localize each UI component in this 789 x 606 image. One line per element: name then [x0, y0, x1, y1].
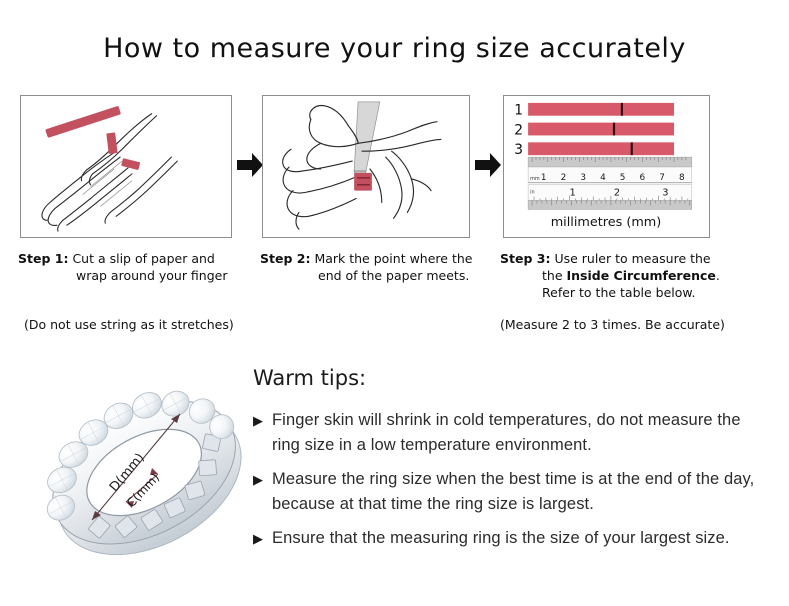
svg-text:6: 6 — [640, 173, 646, 183]
svg-text:3: 3 — [580, 173, 586, 183]
step-1-illustration-panel — [20, 95, 232, 238]
step-1-line2: wrap around your finger — [18, 267, 246, 284]
bullet-triangle-icon: ▶ — [253, 526, 263, 551]
bullet-triangle-icon: ▶ — [253, 467, 263, 492]
svg-text:3: 3 — [662, 188, 668, 199]
tip-item: ▶ Ensure that the measuring ring is the … — [253, 526, 773, 551]
step-3-line2-prefix: the — [542, 268, 567, 283]
step-2-line1: Mark the point where the — [314, 251, 472, 266]
step-3-illustration-panel: 1 2 3 mm 123 456 78 — [503, 95, 710, 238]
tip-item: ▶ Measure the ring size when the best ti… — [253, 467, 773, 517]
step-1-line1: Cut a slip of paper and — [72, 251, 214, 266]
tip-text: Measure the ring size when the best time… — [272, 467, 773, 517]
svg-text:5: 5 — [620, 173, 626, 183]
page-title: How to measure your ring size accurately — [0, 33, 789, 64]
svg-text:1: 1 — [541, 173, 547, 183]
tip-text: Finger skin will shrink in cold temperat… — [272, 408, 773, 458]
hand-with-paper-strip-drawing — [21, 96, 231, 237]
strip-label-2: 2 — [514, 122, 523, 138]
svg-text:8: 8 — [679, 173, 685, 183]
step-3-line1: Use ruler to measure the — [554, 251, 710, 266]
inside-circumference-emphasis: Inside Circumference — [567, 268, 716, 283]
svg-text:mm: mm — [530, 176, 540, 182]
unit-caption: millimetres (mm) — [551, 215, 662, 230]
svg-text:in: in — [530, 190, 535, 196]
ring-diagram: D(mm) C(mm) — [30, 352, 262, 596]
svg-text:4: 4 — [600, 173, 606, 183]
strip-label-1: 1 — [514, 103, 523, 119]
step-2-lead: Step 2: — [260, 251, 310, 266]
warm-tips-heading: Warm tips: — [253, 366, 773, 390]
paper-strip-mark — [354, 173, 372, 191]
svg-text:2: 2 — [614, 188, 620, 199]
step-3-line3: Refer to the table below. — [500, 284, 735, 301]
step-2-caption: Step 2: Mark the point where the end of … — [260, 250, 482, 284]
step-3-line2-suffix: . — [716, 268, 720, 283]
svg-text:1: 1 — [570, 188, 576, 199]
step-1-note: (Do not use string as it stretches) — [24, 317, 234, 332]
svg-text:2: 2 — [561, 173, 567, 183]
strip-label-3: 3 — [514, 142, 523, 158]
warm-tips-section: Warm tips: ▶ Finger skin will shrink in … — [253, 366, 773, 560]
tip-item: ▶ Finger skin will shrink in cold temper… — [253, 408, 773, 458]
step-3-lead: Step 3: — [500, 251, 550, 266]
step-2-line2: end of the paper meets. — [260, 267, 482, 284]
hand-marking-paper-drawing — [263, 96, 469, 237]
step-3-caption: Step 3: Use ruler to measure the the Ins… — [500, 250, 735, 301]
ring-size-guide-page: How to measure your ring size accurately — [0, 0, 789, 606]
step-1-caption: Step 1: Cut a slip of paper and wrap aro… — [18, 250, 246, 284]
arrow-right-icon-1 — [236, 150, 264, 180]
step-3-line2: the Inside Circumference. — [500, 267, 735, 284]
bullet-triangle-icon: ▶ — [253, 408, 263, 433]
svg-text:7: 7 — [659, 173, 665, 183]
step-3-note: (Measure 2 to 3 times. Be accurate) — [500, 317, 725, 332]
tip-text: Ensure that the measuring ring is the si… — [272, 526, 730, 551]
step-1-lead: Step 1: — [18, 251, 68, 266]
arrow-right-icon-2 — [474, 150, 502, 180]
step-2-illustration-panel — [262, 95, 470, 238]
ruler-and-strips-drawing: 1 2 3 mm 123 456 78 — [504, 96, 709, 237]
